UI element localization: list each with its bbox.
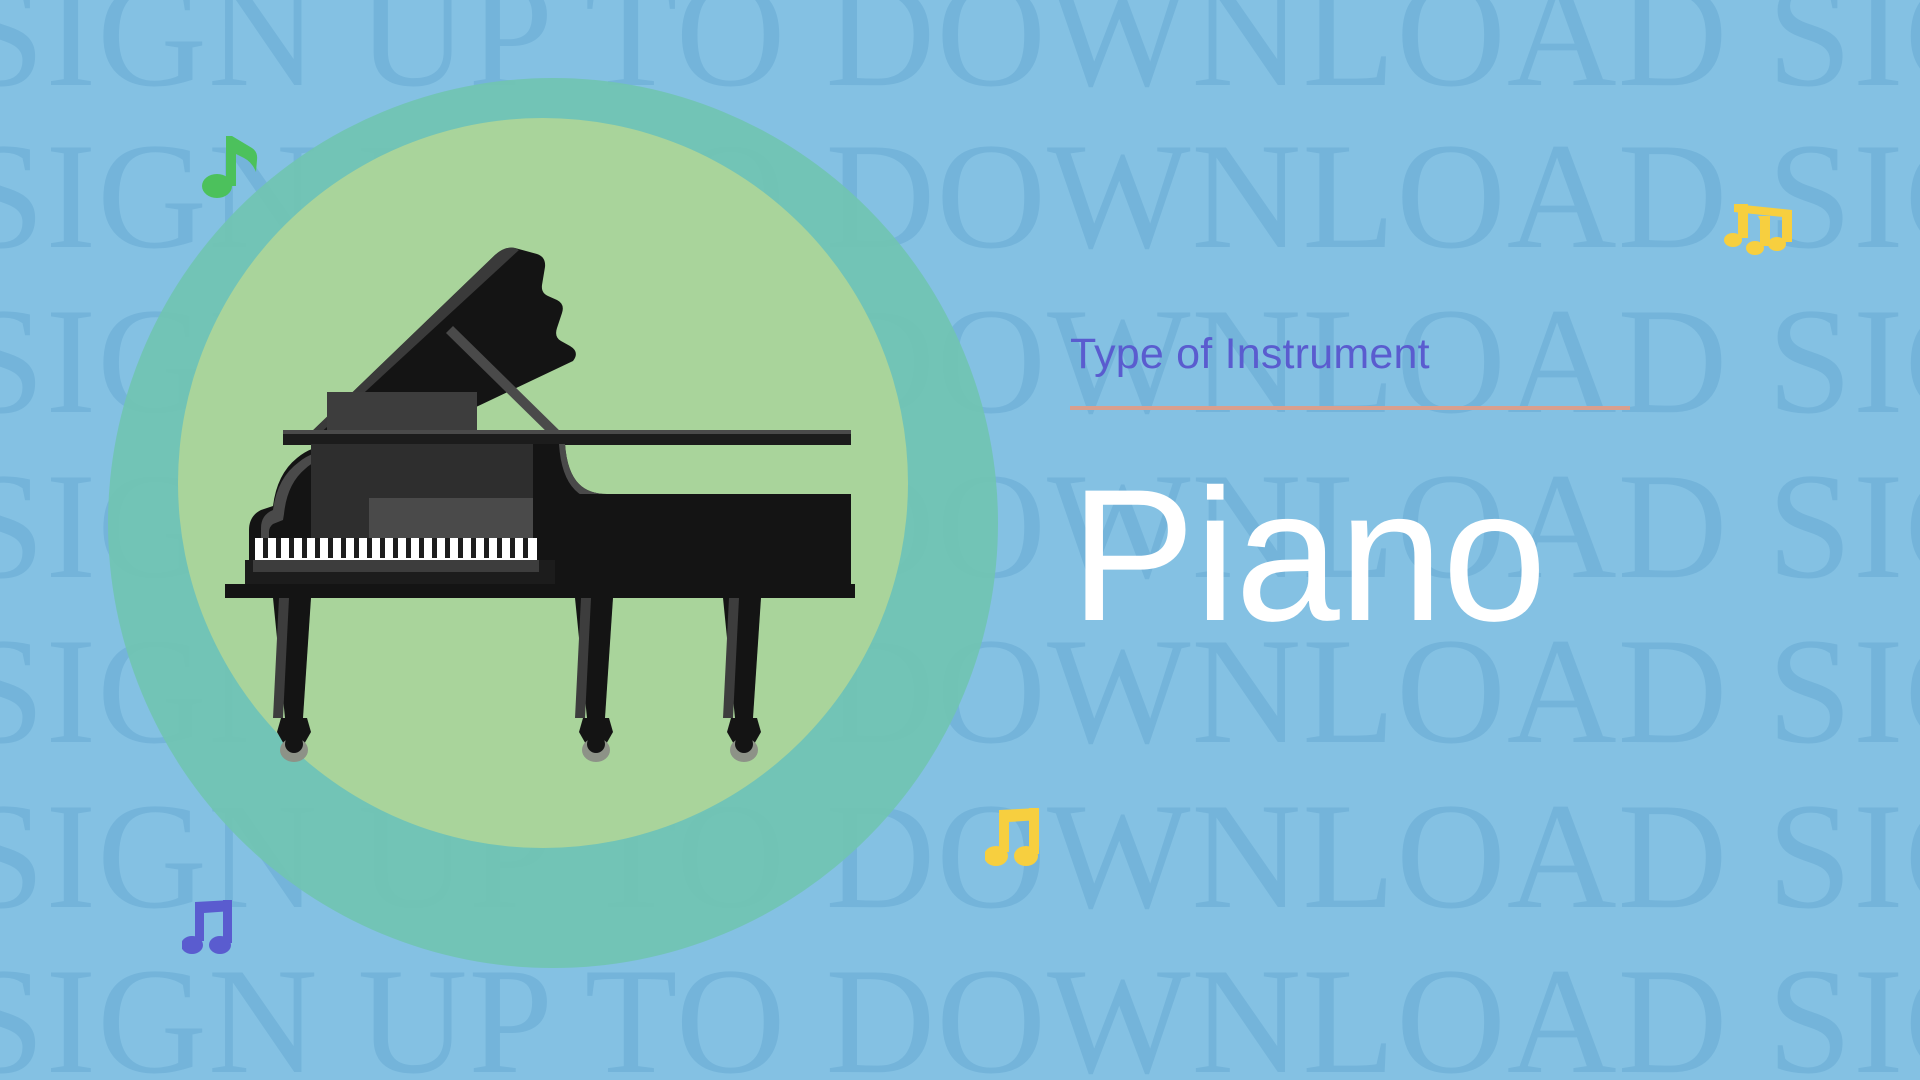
green-eighth-note-icon <box>200 132 262 202</box>
piano-leg-right <box>723 598 761 762</box>
blue-beamed-double-note-icon <box>182 898 240 960</box>
piano-top-board-highlight <box>283 430 851 434</box>
piano-black-keys <box>263 538 528 558</box>
page-title: Piano <box>1070 460 1640 652</box>
grand-piano-illustration <box>215 240 875 850</box>
yellow-triple-note-icon <box>1724 202 1800 264</box>
text-panel: Type of Instrument Piano <box>1070 330 1640 652</box>
kicker-label: Type of Instrument <box>1070 330 1640 378</box>
slide-canvas: SIGN UP TO DOWNLOAD SIGN UP TO DOWNLOAD … <box>0 0 1920 1080</box>
piano-base-rail <box>225 584 855 598</box>
piano-leg-middle <box>575 598 613 762</box>
piano-right-cheek-highlight <box>545 444 851 502</box>
piano-body-right <box>563 494 851 590</box>
title-divider <box>1070 406 1630 410</box>
piano-leg-left <box>273 598 311 762</box>
yellow-beamed-double-note-icon <box>985 806 1047 872</box>
piano-key-shadow <box>253 560 539 572</box>
